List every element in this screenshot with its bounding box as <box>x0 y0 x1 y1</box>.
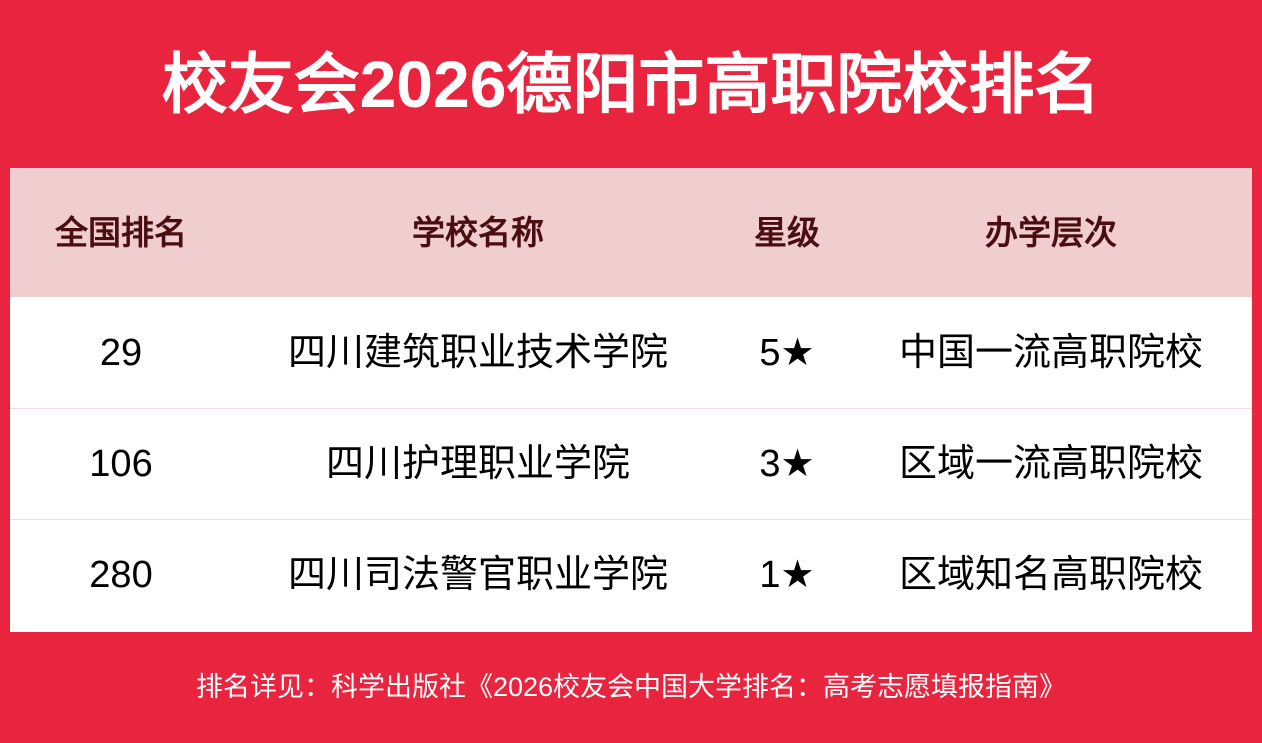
cell-star-rating: 5★ <box>724 334 850 372</box>
ranking-poster: 校友会2026德阳市高职院校排名 全国排名 学校名称 星级 办学层次 29 四川… <box>0 0 1262 743</box>
table-row: 106 四川护理职业学院 3★ 区域一流高职院校 <box>10 408 1252 519</box>
cell-rank: 280 <box>10 556 232 594</box>
column-header-school-name: 学校名称 <box>232 216 724 249</box>
cell-school-level: 区域一流高职院校 <box>850 445 1252 483</box>
column-header-star-rating: 星级 <box>724 216 850 249</box>
footer-note: 排名详见：科学出版社《2026校友会中国大学排名：高考志愿填报指南》 <box>10 632 1252 743</box>
cell-school-level: 中国一流高职院校 <box>850 334 1252 372</box>
source-citation: 排名详见：科学出版社《2026校友会中国大学排名：高考志愿填报指南》 <box>196 674 1066 701</box>
column-header-school-level: 办学层次 <box>850 216 1252 249</box>
cell-rank: 106 <box>10 445 232 483</box>
cell-star-rating: 1★ <box>724 556 850 594</box>
ranking-table: 全国排名 学校名称 星级 办学层次 29 四川建筑职业技术学院 5★ 中国一流高… <box>10 168 1252 632</box>
cell-rank: 29 <box>10 334 232 372</box>
table-header-row: 全国排名 学校名称 星级 办学层次 <box>10 168 1252 297</box>
cell-school-level: 区域知名高职院校 <box>850 556 1252 594</box>
table-row: 280 四川司法警官职业学院 1★ 区域知名高职院校 <box>10 519 1252 630</box>
column-header-rank: 全国排名 <box>10 216 232 249</box>
table-row: 29 四川建筑职业技术学院 5★ 中国一流高职院校 <box>10 297 1252 408</box>
title-banner: 校友会2026德阳市高职院校排名 <box>0 0 1262 168</box>
cell-star-rating: 3★ <box>724 445 850 483</box>
cell-school-name: 四川司法警官职业学院 <box>232 556 724 594</box>
cell-school-name: 四川护理职业学院 <box>232 445 724 483</box>
cell-school-name: 四川建筑职业技术学院 <box>232 334 724 372</box>
page-title: 校友会2026德阳市高职院校排名 <box>162 51 1101 117</box>
